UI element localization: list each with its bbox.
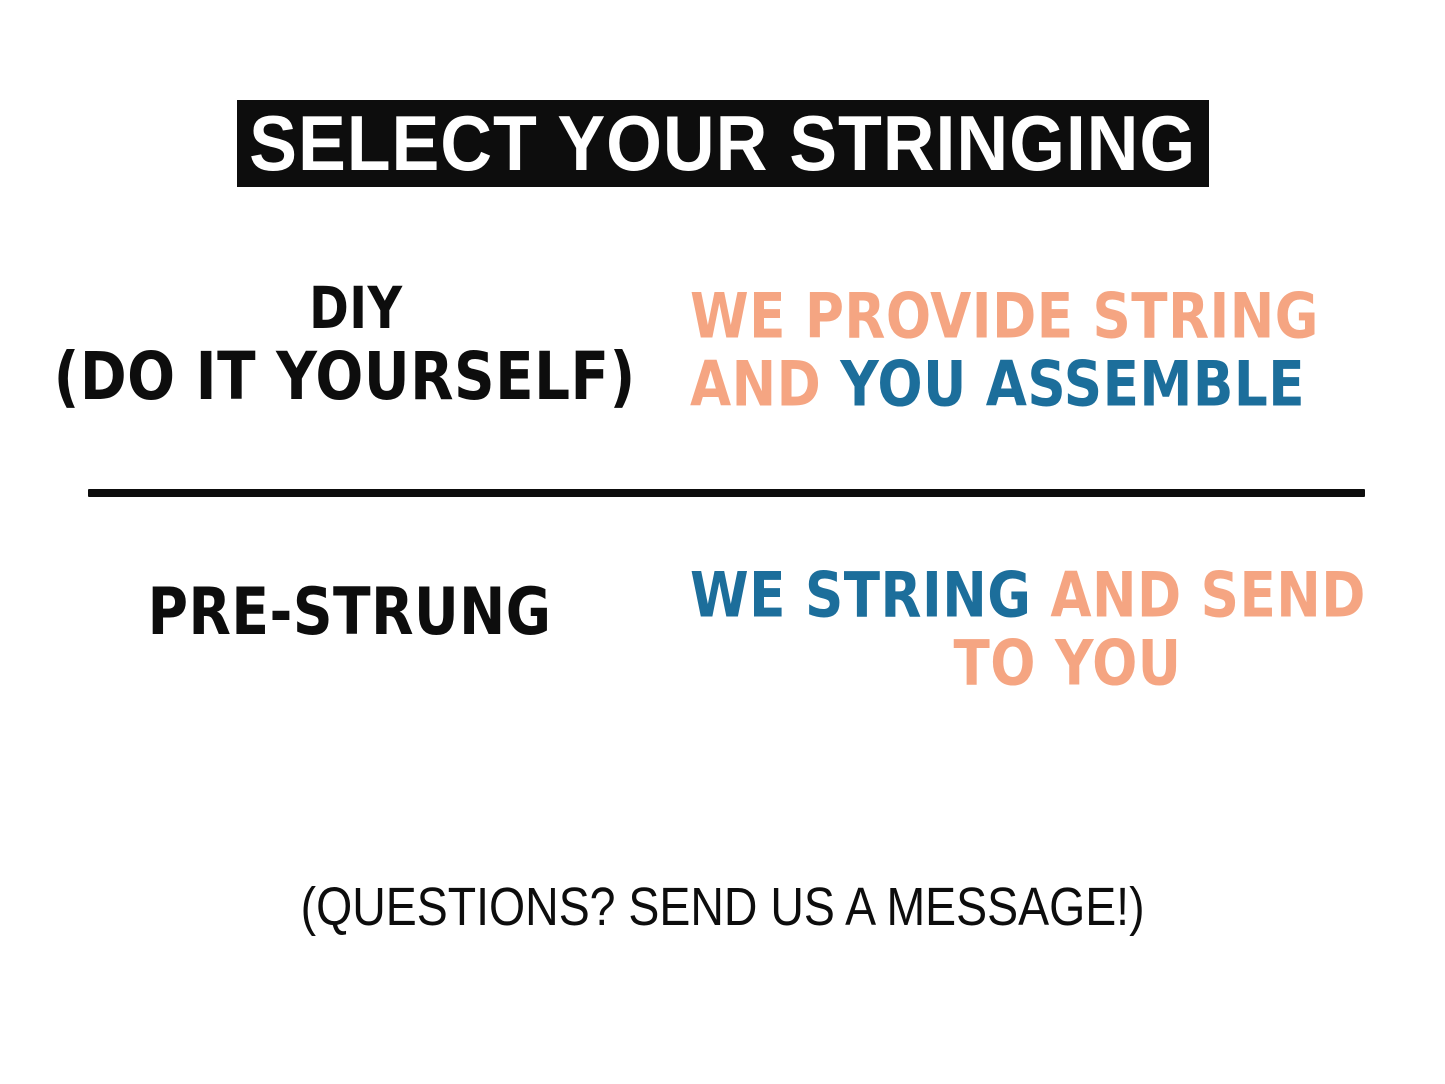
slide-canvas: SELECT YOUR STRINGING DIY (DO IT YOURSEL… bbox=[0, 0, 1445, 1084]
title-banner: SELECT YOUR STRINGING bbox=[237, 100, 1209, 187]
pre-strung-description-and-send: AND SEND bbox=[1031, 559, 1366, 632]
diy-description-line-1: WE PROVIDE STRING bbox=[690, 286, 1319, 349]
section-divider bbox=[88, 489, 1365, 497]
pre-strung-label: PRE-STRUNG bbox=[148, 579, 552, 644]
diy-description-group: WE PROVIDE STRING AND YOU ASSEMBLE bbox=[690, 286, 1445, 410]
pre-strung-description-line-2: TO YOU bbox=[709, 633, 1426, 696]
diy-description-and: AND bbox=[690, 348, 840, 421]
diy-label-line-2: (DO IT YOURSELF) bbox=[54, 344, 636, 410]
pre-strung-description-group: WE STRING AND SEND TO YOU bbox=[690, 565, 1445, 689]
footer: (QUESTIONS? SEND US A MESSAGE!) bbox=[0, 876, 1445, 938]
page-title: SELECT YOUR STRINGING bbox=[250, 104, 1197, 182]
diy-label-line-1: DIY bbox=[309, 280, 403, 338]
option-row-diy[interactable]: DIY (DO IT YOURSELF) WE PROVIDE STRING A… bbox=[0, 286, 1445, 436]
pre-strung-description-line-1: WE STRING AND SEND bbox=[690, 565, 1366, 628]
diy-description-you-assemble: YOU ASSEMBLE bbox=[840, 348, 1305, 421]
diy-label-group: DIY (DO IT YOURSELF) bbox=[0, 286, 690, 404]
pre-strung-label-group: PRE-STRUNG bbox=[0, 565, 690, 637]
option-row-pre-strung[interactable]: PRE-STRUNG WE STRING AND SEND TO YOU bbox=[0, 565, 1445, 715]
pre-strung-description-we-string: WE STRING bbox=[690, 559, 1031, 632]
footer-message: (QUESTIONS? SEND US A MESSAGE!) bbox=[301, 876, 1145, 938]
diy-description-line-2: AND YOU ASSEMBLE bbox=[690, 354, 1305, 417]
